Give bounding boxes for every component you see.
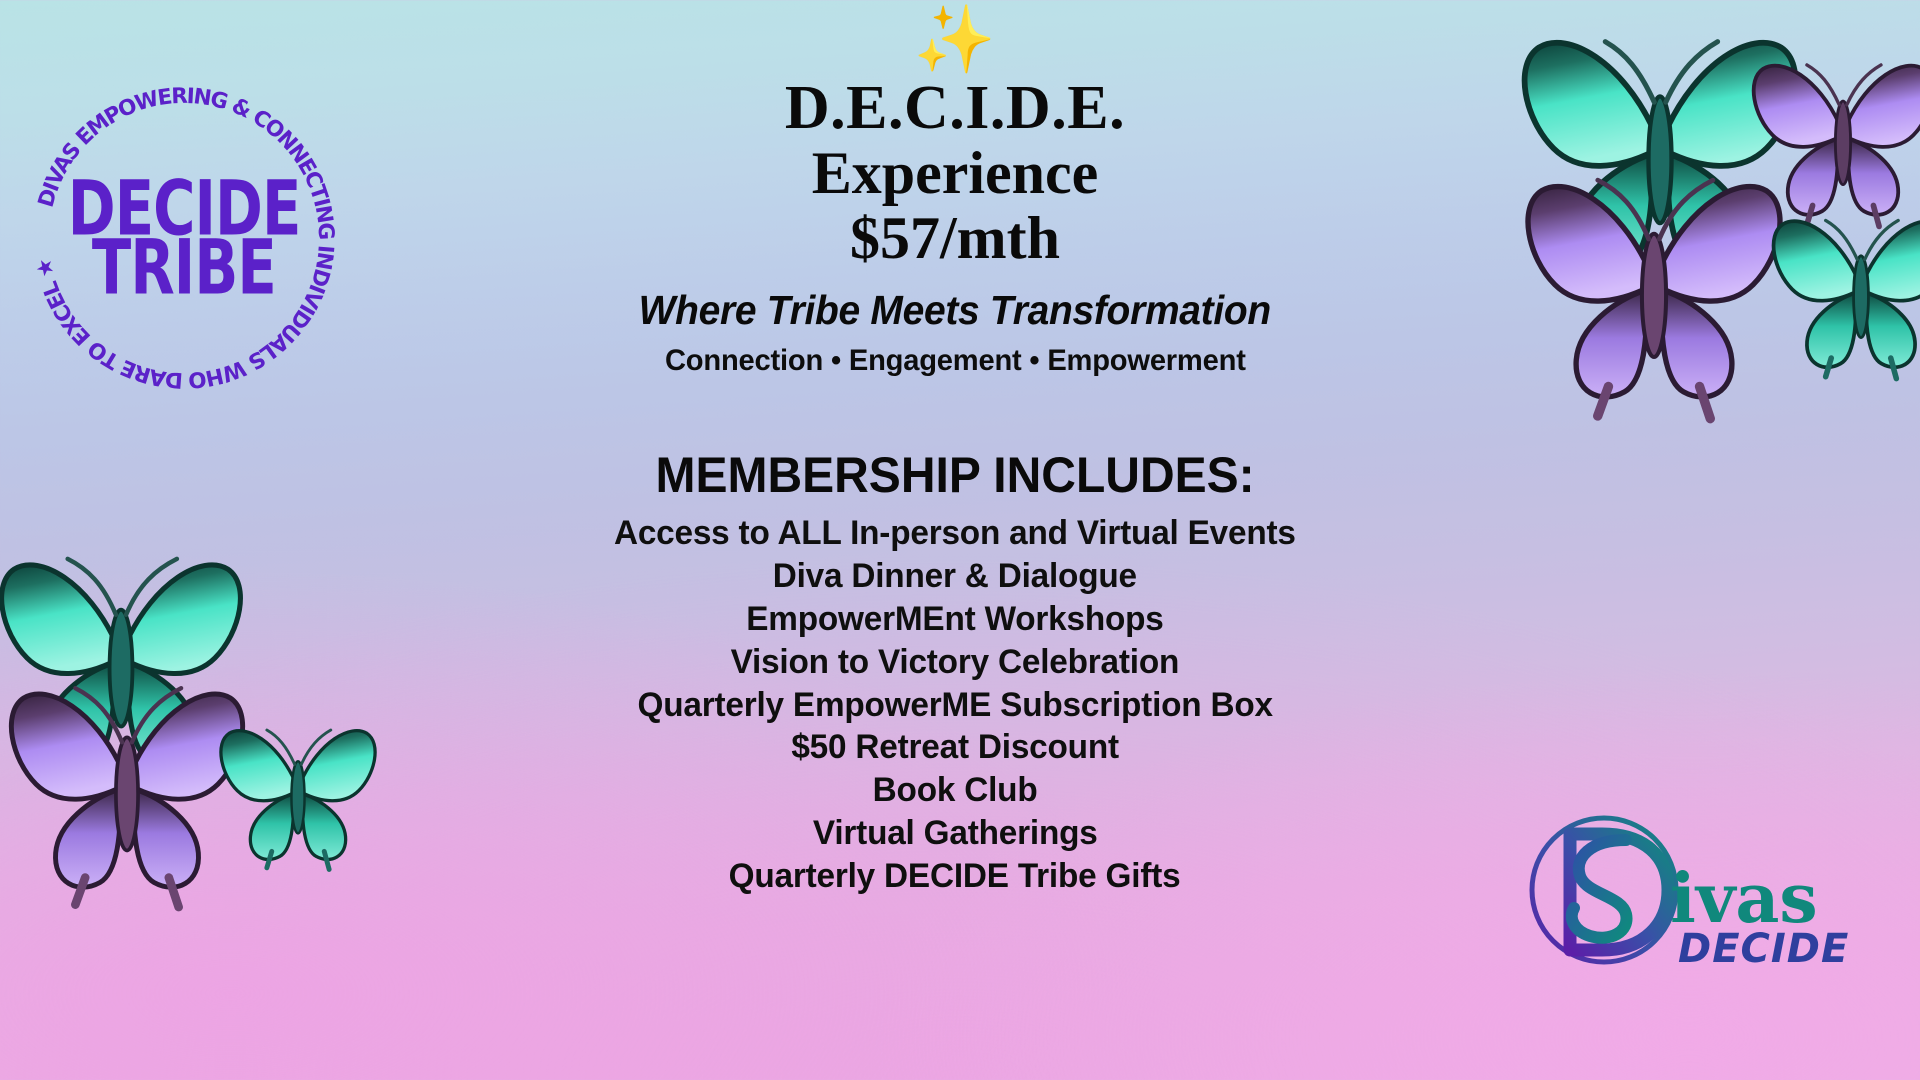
list-item: Quarterly EmpowerME Subscription Box xyxy=(637,684,1272,727)
butterfly-top-right-small-teal xyxy=(1768,200,1920,386)
list-item: Virtual Gatherings xyxy=(813,812,1098,855)
butterfly-bottom-left-small-teal xyxy=(216,712,380,876)
divas-decide-logo: ivas DECIDE xyxy=(1518,810,1838,990)
list-item: Diva Dinner & Dialogue xyxy=(773,555,1137,598)
list-item: EmpowerMEnt Workshops xyxy=(746,598,1163,641)
badge-line-2: TRIBE xyxy=(92,233,276,303)
list-item: Access to ALL In-person and Virtual Even… xyxy=(614,512,1296,555)
list-item: $50 Retreat Discount xyxy=(791,726,1119,769)
list-item: Book Club xyxy=(873,769,1038,812)
butterfly-bottom-left-large-purple xyxy=(4,666,250,914)
decide-tribe-badge: DIVAS EMPOWERING & CONNECTING INDIVIDUAL… xyxy=(24,78,344,398)
hero-price: $57/mth xyxy=(850,207,1060,269)
list-item: Vision to Victory Celebration xyxy=(731,641,1180,684)
badge-core: DECIDE TRIBE xyxy=(24,78,344,398)
membership-list: Access to ALL In-person and Virtual Even… xyxy=(607,512,1303,897)
membership-heading: MEMBERSHIP INCLUDES: xyxy=(655,446,1254,504)
sparkles-icon: ✨ xyxy=(914,6,996,72)
butterfly-top-right-large-purple xyxy=(1520,156,1788,424)
hero-pillars: Connection • Engagement • Empowerment xyxy=(665,344,1246,378)
hero-tagline: Where Tribe Meets Transformation xyxy=(639,287,1271,334)
brand-tagline: DECIDE xyxy=(1678,926,1849,972)
main-content: ✨ D.E.C.I.D.E. Experience $57/mth Where … xyxy=(390,0,1520,1080)
poster-canvas: DIVAS EMPOWERING & CONNECTING INDIVIDUAL… xyxy=(0,0,1920,1080)
hero-subtitle: Experience xyxy=(812,142,1099,204)
hero-title: D.E.C.I.D.E. xyxy=(785,76,1125,140)
list-item: Quarterly DECIDE Tribe Gifts xyxy=(729,855,1181,898)
